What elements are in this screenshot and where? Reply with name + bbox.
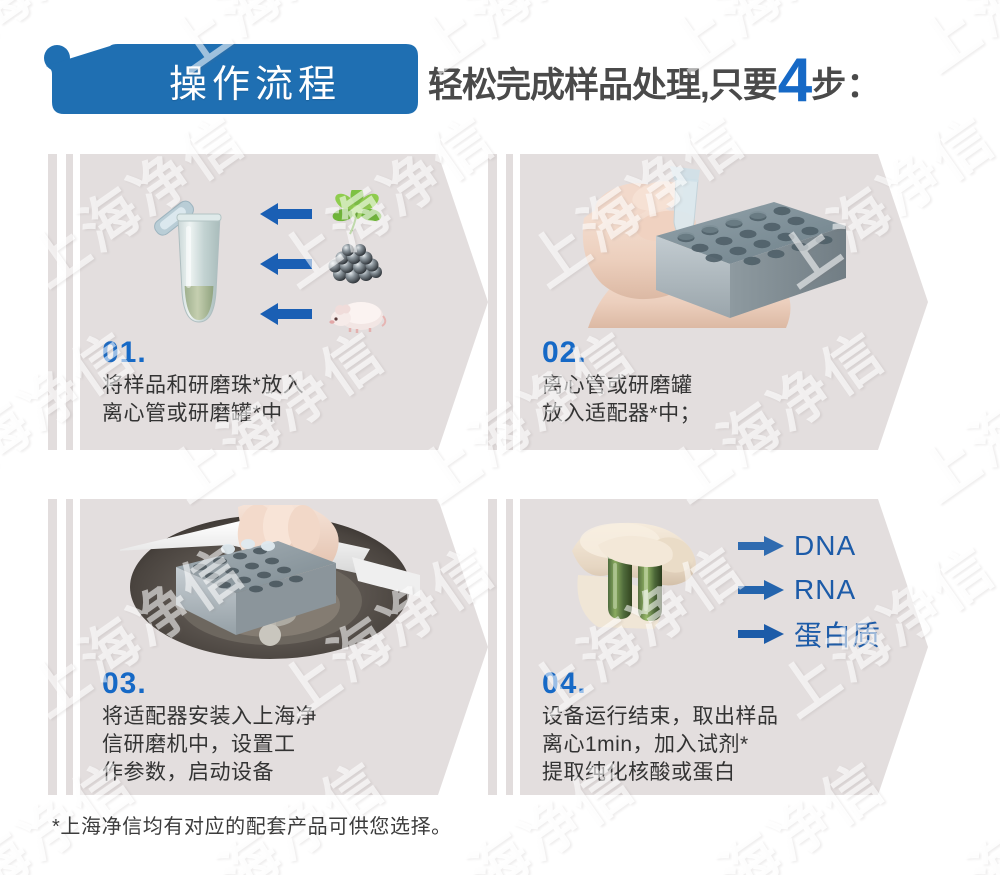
step-description: 设备运行结束，取出样品 离心1min，加入试剂* 提取纯化核酸或蛋白 (542, 703, 779, 787)
arrow-left-icon (260, 251, 312, 277)
tagline-step-count: 4 (778, 56, 810, 106)
step-description: 将样品和研磨珠*放入 离心管或研磨罐*中 (102, 372, 304, 428)
sample-row-mouse (260, 292, 460, 336)
sample-row-leaf (260, 192, 460, 236)
card-accent-bar-inner (66, 499, 73, 795)
grinding-beads-icon (326, 240, 388, 288)
card-accent-bar-outer (488, 499, 497, 795)
leaf-icon (326, 190, 388, 238)
output-list: DNA RNA (738, 527, 918, 657)
card-accent-bar-outer (48, 154, 57, 450)
card-accent-bar-outer (48, 499, 57, 795)
step-number: 01. (102, 336, 147, 370)
output-label: 蛋白质 (794, 614, 881, 654)
output-label: DNA (794, 530, 856, 562)
output-row-protein: 蛋白质 (738, 615, 881, 653)
tagline-tail-text: 步： (811, 57, 881, 108)
arrow-right-icon (738, 623, 784, 645)
step-card-03: 03. 将适配器安装入上海净 信研磨机中，设置工 作参数，启动设备 (48, 495, 488, 795)
hand-holding-adapter-photo (548, 160, 858, 330)
step-card-01: 01. 将样品和研磨珠*放入 离心管或研磨罐*中 (48, 150, 488, 450)
card-accent-bar-outer (488, 154, 497, 450)
step-card-04: DNA RNA (488, 495, 928, 795)
output-row-dna: DNA (738, 527, 856, 565)
mouse-icon (326, 290, 388, 338)
sample-row-beads (260, 242, 460, 286)
step-number: 02. (542, 336, 587, 370)
step-description: 离心管或研磨罐 放入适配器*中； (542, 372, 701, 428)
steps-grid: 01. 将样品和研磨珠*放入 离心管或研磨罐*中 (0, 150, 1000, 790)
centrifuge-tube-icon (150, 182, 228, 332)
output-row-rna: RNA (738, 571, 856, 609)
sample-type-list (260, 192, 460, 322)
step-card-body: DNA RNA (520, 499, 928, 795)
card-accent-bar-inner (506, 499, 513, 795)
step-card-body: 01. 将样品和研磨珠*放入 离心管或研磨罐*中 (80, 154, 488, 450)
arrow-right-icon (738, 535, 784, 557)
arrow-left-icon (260, 201, 312, 227)
step-card-body: 03. 将适配器安装入上海净 信研磨机中，设置工 作参数，启动设备 (80, 499, 488, 795)
hand-installing-adapter-photo (120, 505, 420, 665)
footer-note: *上海净信均有对应的配套产品可供您选择。 (52, 810, 452, 839)
arrow-left-icon (260, 301, 312, 327)
step-number: 03. (102, 667, 147, 701)
header-tagline: 轻松完成样品处理,只要 4 步： (428, 52, 881, 112)
page-title: 操作流程 (140, 52, 370, 108)
arrow-right-icon (738, 579, 784, 601)
step-card-body: 02. 离心管或研磨罐 放入适配器*中； (520, 154, 928, 450)
step-description: 将适配器安装入上海净 信研磨机中，设置工 作参数，启动设备 (102, 703, 317, 787)
step-number: 04. (542, 667, 587, 701)
card-accent-bar-inner (66, 154, 73, 450)
card-accent-bar-inner (506, 154, 513, 450)
step-card-02: 02. 离心管或研磨罐 放入适配器*中； (488, 150, 928, 450)
tagline-main-text: 轻松完成样品处理,只要 (428, 57, 777, 108)
output-label: RNA (794, 574, 856, 606)
gloved-hand-tubes-photo (568, 515, 728, 655)
infographic-page: 操作流程 轻松完成样品处理,只要 4 步： (0, 0, 1000, 875)
page-header: 操作流程 轻松完成样品处理,只要 4 步： (0, 0, 1000, 140)
